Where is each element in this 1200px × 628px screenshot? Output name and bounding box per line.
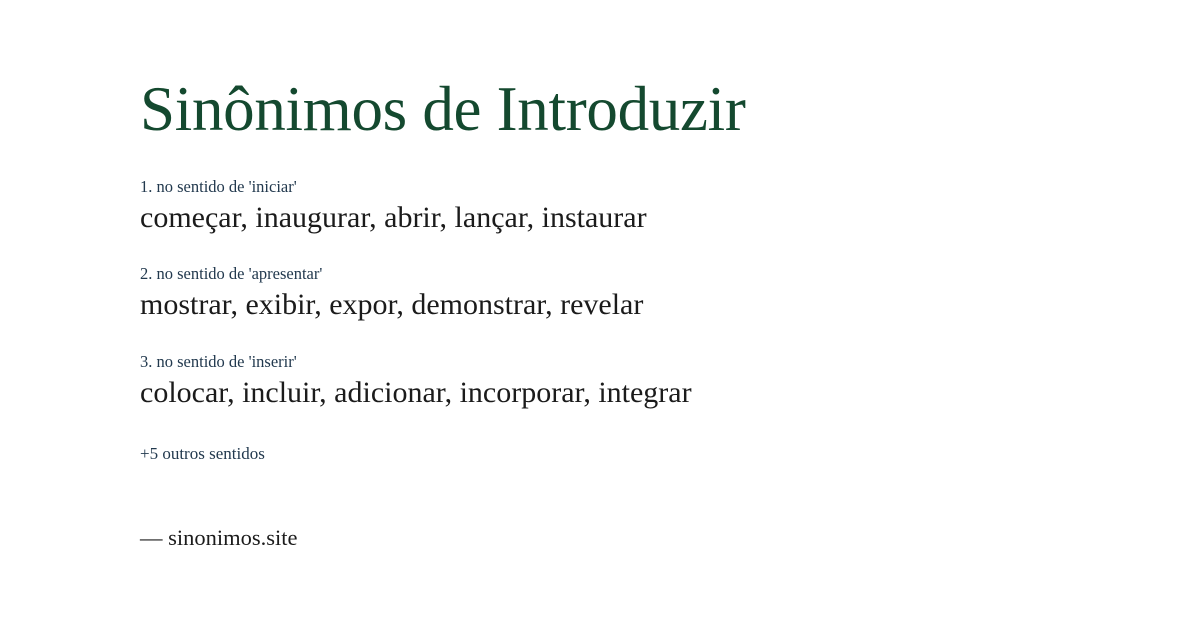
sense-synonyms: colocar, incluir, adicionar, incorporar,… xyxy=(140,375,1080,410)
sense-label: 3. no sentido de 'inserir' xyxy=(140,353,1080,372)
sense-label: 2. no sentido de 'apresentar' xyxy=(140,265,1080,284)
page-title: Sinônimos de Introduzir xyxy=(140,78,746,141)
sense-synonyms: mostrar, exibir, expor, demonstrar, reve… xyxy=(140,287,1080,322)
synonym-card: Sinônimos de Introduzir 1. no sentido de… xyxy=(0,0,1200,628)
site-attribution: — sinonimos.site xyxy=(140,524,298,551)
sense-synonyms: começar, inaugurar, abrir, lançar, insta… xyxy=(140,200,1080,235)
more-senses-note: +5 outros sentidos xyxy=(140,444,265,464)
sense-entry: 3. no sentido de 'inserir' colocar, incl… xyxy=(140,353,1080,410)
sense-entry: 2. no sentido de 'apresentar' mostrar, e… xyxy=(140,265,1080,322)
sense-entry: 1. no sentido de 'iniciar' começar, inau… xyxy=(140,178,1080,235)
sense-label: 1. no sentido de 'iniciar' xyxy=(140,178,1080,197)
sense-list: 1. no sentido de 'iniciar' começar, inau… xyxy=(140,178,1080,410)
